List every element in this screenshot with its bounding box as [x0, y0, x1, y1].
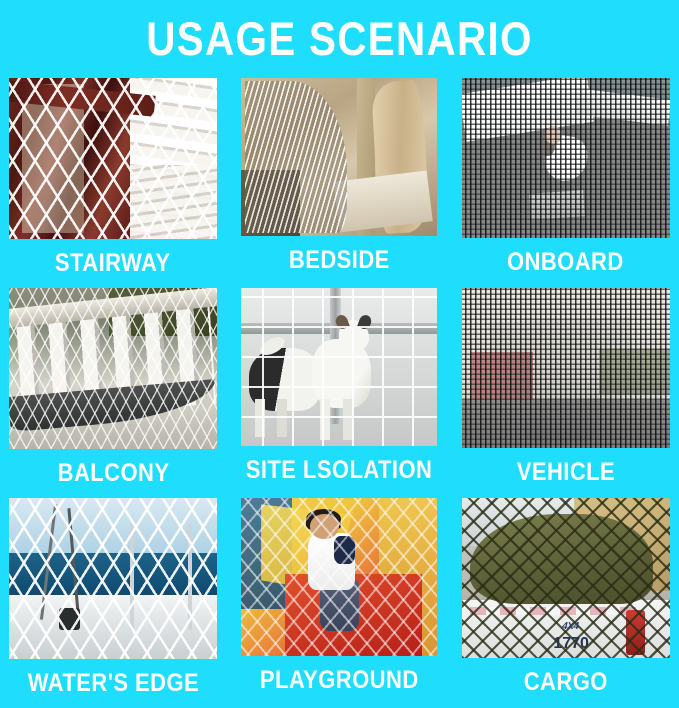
safety-net-overlay	[462, 498, 670, 658]
scenario-cell-vehicle: VEHICLE	[453, 288, 679, 498]
truck-number-decal: 1770	[553, 635, 589, 653]
safety-net-overlay	[9, 78, 217, 239]
scenario-image-balcony	[9, 288, 217, 449]
scenario-cell-waters-edge: WATER'S EDGE	[0, 498, 226, 708]
scenario-cell-onboard: ONBOARD	[453, 78, 679, 288]
usage-scenario-infographic: USAGE SCENARIO STAIRWAY BEDSID	[0, 0, 679, 679]
scenario-label-vehicle: VEHICLE	[517, 460, 615, 484]
scenario-cell-bedside: BEDSIDE	[226, 78, 452, 288]
safety-net-overlay	[9, 288, 217, 449]
scenario-image-cargo: 4X4 1770	[462, 498, 670, 658]
scenario-grid: STAIRWAY BEDSIDE	[0, 78, 679, 708]
safety-net-overlay	[462, 78, 670, 238]
scenario-cell-balcony: BALCONY	[0, 288, 226, 498]
scenario-image-stairway	[9, 78, 217, 239]
scenario-label-waters-edge: WATER'S EDGE	[27, 671, 198, 695]
scenario-cell-site-isolation: SITE LSOLATION	[226, 288, 452, 498]
safety-net-overlay	[241, 288, 437, 446]
scenario-label-onboard: ONBOARD	[507, 250, 624, 274]
scenario-cell-stairway: STAIRWAY	[0, 78, 226, 288]
safety-net-overlay	[241, 498, 437, 656]
scenario-image-onboard	[462, 78, 670, 238]
safety-net-overlay	[245, 81, 347, 233]
scenario-label-playground: PLAYGROUND	[260, 668, 419, 692]
safety-net-overlay	[462, 288, 670, 448]
truck-4x4-badge: 4X4	[560, 621, 579, 632]
scenario-label-site-isolation: SITE LSOLATION	[246, 458, 433, 482]
scenario-image-playground	[241, 498, 437, 656]
scenario-label-cargo: CARGO	[524, 670, 608, 694]
scenario-image-site-isolation	[241, 288, 437, 446]
scenario-image-waters-edge	[9, 498, 217, 659]
page-title: USAGE SCENARIO	[48, 14, 632, 64]
scenario-label-bedside: BEDSIDE	[289, 248, 390, 272]
scenario-label-balcony: BALCONY	[57, 461, 169, 485]
scenario-image-vehicle	[462, 288, 670, 448]
scenario-cell-playground: PLAYGROUND	[226, 498, 452, 708]
scenario-label-stairway: STAIRWAY	[55, 251, 171, 275]
safety-net-overlay	[9, 498, 217, 659]
scenario-cell-cargo: 4X4 1770 CARGO	[453, 498, 679, 708]
scenario-image-bedside	[241, 78, 437, 236]
